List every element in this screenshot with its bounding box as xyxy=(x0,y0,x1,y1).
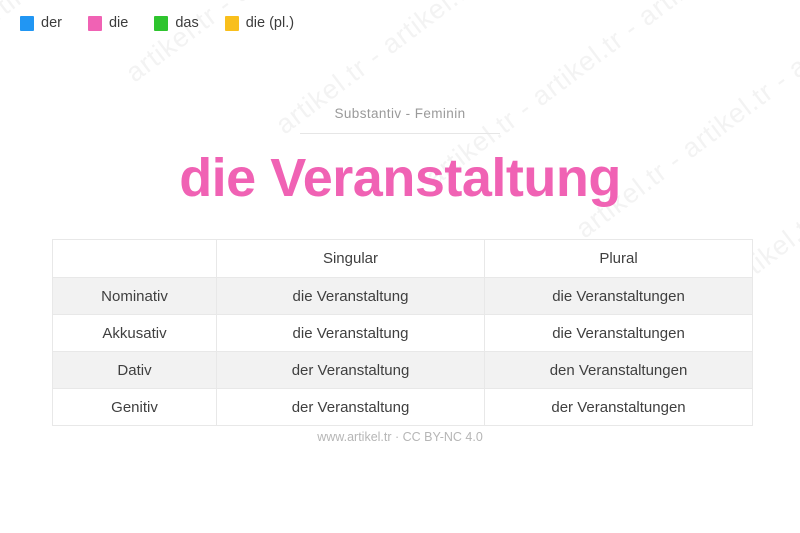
cell-plural: der Veranstaltungen xyxy=(485,389,753,426)
legend-item-label: die xyxy=(109,16,128,31)
color-swatch-icon xyxy=(154,16,168,31)
legend-item-das[interactable]: das xyxy=(154,16,198,31)
color-swatch-icon xyxy=(225,16,239,31)
declension-table: Singular Plural Nominativdie Veranstaltu… xyxy=(52,239,753,426)
table-header-row: Singular Plural xyxy=(53,240,753,278)
header-divider xyxy=(300,133,500,134)
table-body: Nominativdie Veranstaltungdie Veranstalt… xyxy=(53,278,753,426)
table-row: Nominativdie Veranstaltungdie Veranstalt… xyxy=(53,278,753,315)
article-color-legend: derdiedasdie (pl.) xyxy=(20,16,294,31)
cell-plural: die Veranstaltungen xyxy=(485,315,753,352)
case-label-nominativ: Nominativ xyxy=(53,278,217,315)
color-swatch-icon xyxy=(20,16,34,31)
cell-plural: die Veranstaltungen xyxy=(485,278,753,315)
cell-plural: den Veranstaltungen xyxy=(485,352,753,389)
table-header: Singular Plural xyxy=(53,240,753,278)
legend-item-label: der xyxy=(41,16,62,31)
case-label-genitiv: Genitiv xyxy=(53,389,217,426)
column-header-plural: Plural xyxy=(485,240,753,278)
color-swatch-icon xyxy=(88,16,102,31)
noun-declension-card: derdiedasdie (pl.) Substantiv - Feminin … xyxy=(0,0,800,533)
table-row: Genitivder Veranstaltungder Veranstaltun… xyxy=(53,389,753,426)
legend-item-label: die (pl.) xyxy=(246,16,294,31)
cell-singular: die Veranstaltung xyxy=(217,278,485,315)
table-row: Akkusativdie Veranstaltungdie Veranstalt… xyxy=(53,315,753,352)
column-header-singular: Singular xyxy=(217,240,485,278)
part-of-speech-line: Substantiv - Feminin xyxy=(0,106,800,133)
table-row: Dativder Veranstaltungden Veranstaltunge… xyxy=(53,352,753,389)
column-header-case xyxy=(53,240,217,278)
legend-item-die[interactable]: die xyxy=(88,16,128,31)
legend-item-label: das xyxy=(175,16,198,31)
legend-item-diepl[interactable]: die (pl.) xyxy=(225,16,294,31)
cell-singular: die Veranstaltung xyxy=(217,315,485,352)
cell-singular: der Veranstaltung xyxy=(217,352,485,389)
legend-item-der[interactable]: der xyxy=(20,16,62,31)
case-label-akkusativ: Akkusativ xyxy=(53,315,217,352)
footer-credit: www.artikel.tr · CC BY-NC 4.0 xyxy=(0,430,800,444)
case-label-dativ: Dativ xyxy=(53,352,217,389)
cell-singular: der Veranstaltung xyxy=(217,389,485,426)
page-title: die Veranstaltung xyxy=(0,150,800,207)
word-header: Substantiv - Feminin die Veranstaltung xyxy=(0,106,800,207)
